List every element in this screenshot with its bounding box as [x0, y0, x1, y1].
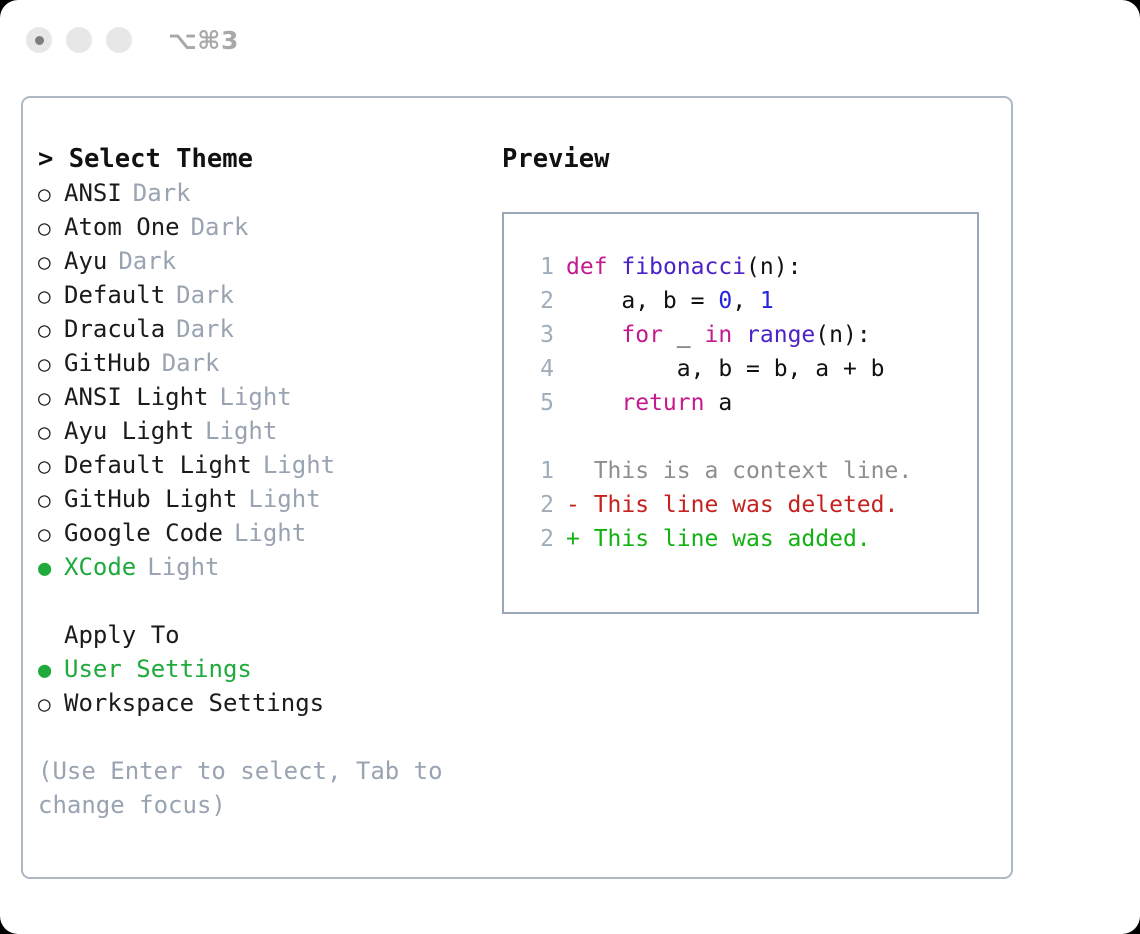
theme-option-label: Dracula	[64, 312, 165, 346]
code-line: 3 for _ in range(n):	[524, 318, 977, 352]
code-token-plain: ,	[732, 288, 760, 314]
apply-to-option-label: User Settings	[64, 652, 252, 686]
title-bar: ⌥⌘3	[0, 0, 1140, 80]
code-line: 4 a, b = b, a + b	[524, 352, 977, 386]
dot-inner	[35, 36, 44, 45]
code-line-number: 3	[524, 318, 554, 352]
radio-selected-icon: ●	[38, 654, 64, 688]
code-token-num: 0	[718, 288, 732, 314]
radio-unselected-icon: ○	[38, 211, 64, 245]
apply-to-option-workspace-settings[interactable]: ○Workspace Settings	[38, 686, 498, 720]
code-token-plain: (n):	[746, 254, 801, 280]
theme-option-ansi[interactable]: ○ANSIDark	[38, 176, 498, 210]
theme-variant-badge: Light	[205, 414, 277, 448]
apply-to-title: Apply To	[38, 618, 498, 652]
theme-option-google-code[interactable]: ○Google CodeLight	[38, 516, 498, 550]
theme-option-label: XCode	[64, 550, 136, 584]
code-token-plain	[566, 390, 621, 416]
theme-option-label: Default	[64, 278, 165, 312]
code-line-text: def fibonacci(n):	[566, 250, 801, 284]
theme-list: ○ANSIDark○Atom OneDark○AyuDark○DefaultDa…	[38, 176, 498, 584]
diff-line-number: 1	[524, 454, 554, 488]
theme-option-label: GitHub	[64, 346, 151, 380]
theme-option-label: Atom One	[64, 210, 180, 244]
radio-unselected-icon: ○	[38, 279, 64, 313]
hint-spacer	[38, 720, 498, 754]
theme-option-ayu-light[interactable]: ○Ayu LightLight	[38, 414, 498, 448]
diff-line-text-add: + This line was added.	[566, 522, 871, 556]
code-line: 2 a, b = 0, 1	[524, 284, 977, 318]
radio-unselected-icon: ○	[38, 313, 64, 347]
code-line: 5 return a	[524, 386, 977, 420]
code-diff-spacer	[524, 420, 977, 454]
code-token-kw: for	[621, 322, 663, 348]
theme-option-label: ANSI	[64, 176, 122, 210]
theme-option-label: ANSI Light	[64, 380, 209, 414]
radio-unselected-icon: ○	[38, 347, 64, 381]
diff-line: 2+ This line was added.	[524, 522, 977, 556]
theme-selection-column: > Select Theme ○ANSIDark○Atom OneDark○Ay…	[38, 142, 498, 822]
theme-option-ayu[interactable]: ○AyuDark	[38, 244, 498, 278]
window-dot-icon[interactable]	[106, 27, 132, 53]
theme-option-label: Ayu	[64, 244, 107, 278]
theme-option-label: Default Light	[64, 448, 252, 482]
code-token-plain: a, b =	[566, 288, 718, 314]
theme-option-label: Google Code	[64, 516, 223, 550]
code-token-plain	[608, 254, 622, 280]
app-window: ⌥⌘3 > Select Theme ○ANSIDark○Atom OneDar…	[0, 0, 1140, 934]
preview-title: Preview	[502, 142, 1002, 176]
code-line-text: return a	[566, 386, 732, 420]
theme-option-github-light[interactable]: ○GitHub LightLight	[38, 482, 498, 516]
theme-option-atom-one[interactable]: ○Atom OneDark	[38, 210, 498, 244]
diff-line-number: 2	[524, 522, 554, 556]
code-token-kw: return	[621, 390, 704, 416]
theme-variant-badge: Dark	[118, 244, 176, 278]
radio-unselected-icon: ○	[38, 517, 64, 551]
keyboard-shortcut-label: ⌥⌘3	[168, 26, 239, 55]
theme-variant-badge: Light	[220, 380, 292, 414]
radio-unselected-icon: ○	[38, 483, 64, 517]
radio-unselected-icon: ○	[38, 449, 64, 483]
code-sample: 1def fibonacci(n):2 a, b = 0, 13 for _ i…	[524, 250, 977, 420]
code-line: 1def fibonacci(n):	[524, 250, 977, 284]
section-spacer	[38, 584, 498, 618]
theme-option-label: GitHub Light	[64, 482, 237, 516]
diff-line-text-del: - This line was deleted.	[566, 488, 898, 522]
radio-unselected-icon: ○	[38, 415, 64, 449]
apply-to-list: ●User Settings○Workspace Settings	[38, 652, 498, 720]
code-token-plain: (n):	[815, 322, 870, 348]
radio-unselected-icon: ○	[38, 381, 64, 415]
code-line-number: 1	[524, 250, 554, 284]
code-line-number: 5	[524, 386, 554, 420]
code-line-text: a, b = b, a + b	[566, 352, 885, 386]
theme-option-default[interactable]: ○DefaultDark	[38, 278, 498, 312]
apply-to-option-user-settings[interactable]: ●User Settings	[38, 652, 498, 686]
radio-unselected-icon: ○	[38, 177, 64, 211]
code-token-num: 1	[760, 288, 774, 314]
radio-unselected-icon: ○	[38, 687, 64, 721]
apply-to-option-label: Workspace Settings	[64, 686, 324, 720]
theme-variant-badge: Dark	[162, 346, 220, 380]
window-dot-icon[interactable]	[66, 27, 92, 53]
code-line-number: 4	[524, 352, 554, 386]
theme-variant-badge: Light	[234, 516, 306, 550]
preview-box: 1def fibonacci(n):2 a, b = 0, 13 for _ i…	[502, 212, 979, 614]
radio-selected-icon: ●	[38, 552, 64, 586]
code-token-plain: a, b = b, a + b	[566, 356, 885, 382]
code-line-text: a, b = 0, 1	[566, 284, 774, 318]
code-token-plain	[566, 322, 621, 348]
theme-variant-badge: Dark	[176, 278, 234, 312]
theme-option-xcode[interactable]: ●XCodeLight	[38, 550, 498, 584]
theme-variant-badge: Dark	[133, 176, 191, 210]
theme-variant-badge: Light	[248, 482, 320, 516]
code-line-number: 2	[524, 284, 554, 318]
keyboard-hint: (Use Enter to select, Tab to change focu…	[38, 754, 458, 822]
code-token-kw: def	[566, 254, 608, 280]
diff-line: 2- This line was deleted.	[524, 488, 977, 522]
diff-line-text-ctx: This is a context line.	[566, 454, 912, 488]
radio-unselected-icon: ○	[38, 245, 64, 279]
theme-option-default-light[interactable]: ○Default LightLight	[38, 448, 498, 482]
page-title: > Select Theme	[38, 142, 498, 176]
theme-option-github[interactable]: ○GitHubDark	[38, 346, 498, 380]
code-token-kw: in	[704, 322, 732, 348]
theme-option-ansi-light[interactable]: ○ANSI LightLight	[38, 380, 498, 414]
window-dot-active-icon[interactable]	[26, 27, 52, 53]
code-line-text: for _ in range(n):	[566, 318, 871, 352]
theme-variant-badge: Dark	[191, 210, 249, 244]
diff-line-number: 2	[524, 488, 554, 522]
theme-variant-badge: Light	[147, 550, 219, 584]
theme-option-label: Ayu Light	[64, 414, 194, 448]
keyboard-hint-line-2: change focus)	[38, 788, 458, 822]
code-token-fn: fibonacci	[621, 254, 746, 280]
preview-column: Preview 1def fibonacci(n):2 a, b = 0, 13…	[502, 142, 1002, 614]
code-token-plain: a	[704, 390, 732, 416]
keyboard-hint-line-1: (Use Enter to select, Tab to	[38, 754, 458, 788]
diff-line: 1 This is a context line.	[524, 454, 977, 488]
code-token-plain: _	[663, 322, 705, 348]
window-controls	[26, 27, 132, 53]
code-token-plain	[732, 322, 746, 348]
main-panel: > Select Theme ○ANSIDark○Atom OneDark○Ay…	[21, 96, 1013, 879]
theme-variant-badge: Dark	[176, 312, 234, 346]
theme-option-dracula[interactable]: ○DraculaDark	[38, 312, 498, 346]
code-token-fn: range	[746, 322, 815, 348]
diff-sample: 1 This is a context line.2- This line wa…	[524, 454, 977, 556]
theme-variant-badge: Light	[263, 448, 335, 482]
